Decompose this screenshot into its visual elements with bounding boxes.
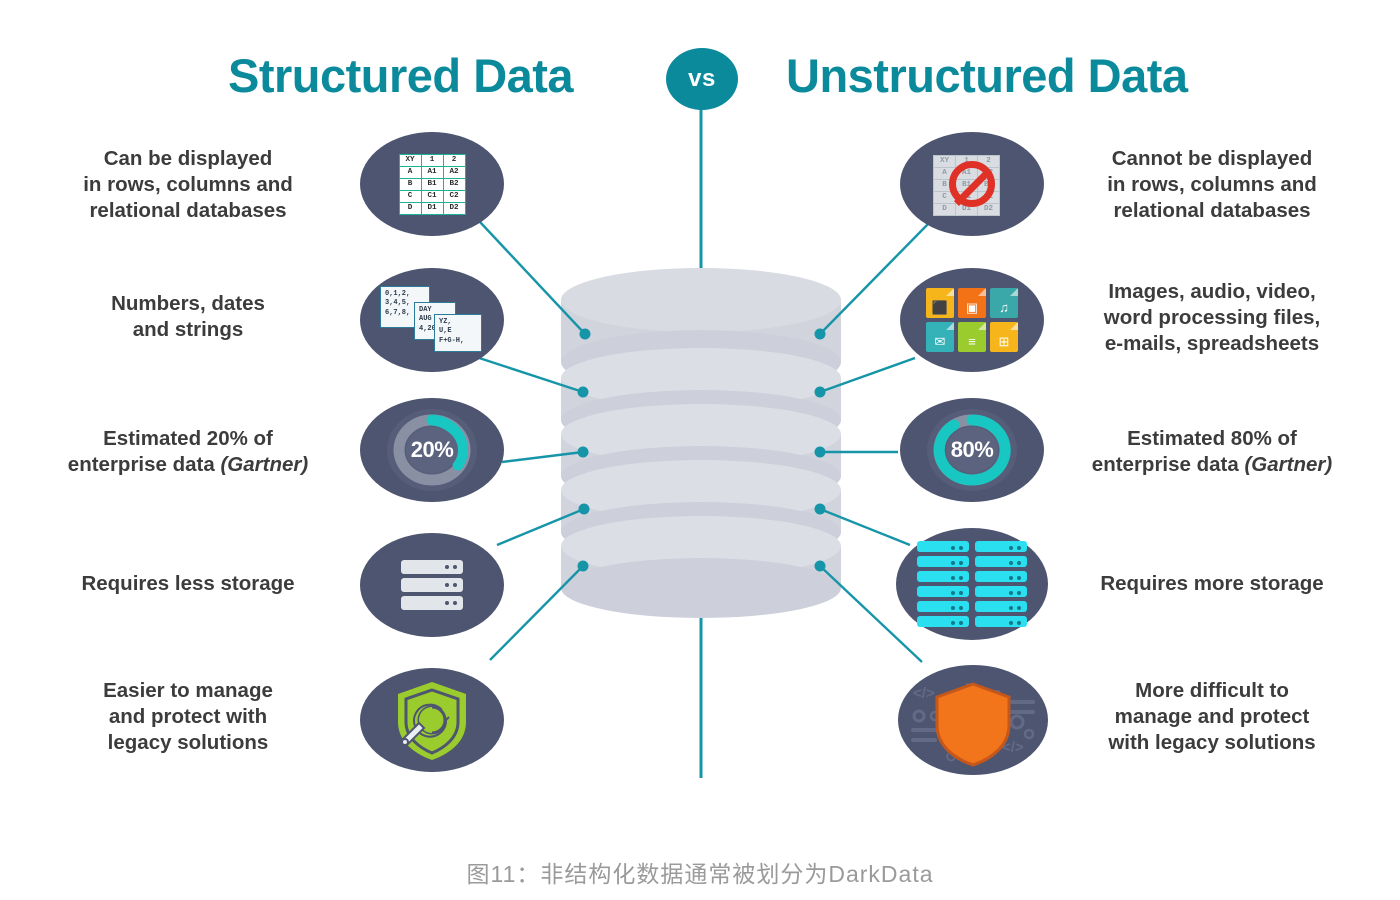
- rack-unit: [401, 560, 463, 574]
- server-rack-large-icon: [896, 528, 1048, 640]
- code-glyph: </>: [913, 685, 935, 702]
- file-glyph: ⊞: [999, 335, 1010, 348]
- database-cylinder-stack: [561, 268, 841, 618]
- label-right-row-4: Requires more storage: [1052, 571, 1372, 597]
- table-cell: A2: [443, 166, 465, 178]
- vs-badge: vs: [666, 48, 738, 110]
- table-cell: D2: [978, 204, 1000, 216]
- file-glyph: ▣: [966, 301, 978, 314]
- rack-unit: [917, 571, 969, 582]
- file-glyph: ✉: [935, 335, 946, 348]
- video-file-icon: ▣: [958, 288, 986, 318]
- table-cell: 1: [421, 154, 443, 166]
- rack-unit: [975, 541, 1027, 552]
- label-left-row-4: Requires less storage: [28, 571, 348, 597]
- donut-chart-80-icon: 80%: [900, 398, 1044, 502]
- label-right-row-1: Cannot be displayed in rows, columns and…: [1052, 146, 1372, 225]
- rack-unit: [917, 601, 969, 612]
- strings-card: YZ, U,E F+G-H,: [434, 314, 482, 352]
- file-glyph: ⬛: [932, 301, 948, 314]
- label-left-row-5: Easier to manage and protect with legacy…: [28, 678, 348, 757]
- table-cell: C: [399, 190, 421, 202]
- table-cell: XY: [934, 156, 956, 168]
- table-cell: D2: [443, 202, 465, 214]
- table-cell: A: [399, 166, 421, 178]
- image-file-icon: ⬛: [926, 288, 954, 318]
- label-right-row-2: Images, audio, video, word processing fi…: [1052, 279, 1372, 358]
- shield-code-icon: </> </> ↻ ↺ C: [898, 665, 1048, 775]
- label-right-row-5: More difficult to manage and protect wit…: [1052, 678, 1372, 757]
- rack-unit: [401, 578, 463, 592]
- data-cards-icon: 0,1,2, 3,4,5, 6,7,8, DAY AUG 4,2025 YZ, …: [360, 268, 504, 372]
- file-types-icon: ⬛ ▣ ♫ ✉ ≡ ⊞: [900, 268, 1044, 372]
- label-right-row-3: Estimated 80% of enterprise data (Gartne…: [1052, 426, 1372, 478]
- table-cell: D: [934, 204, 956, 216]
- document-file-icon: ≡: [958, 322, 986, 352]
- shield-wrench-icon: [360, 668, 504, 772]
- rack-large: [917, 541, 1027, 627]
- table-cell: C2: [443, 190, 465, 202]
- rack-small: [401, 560, 463, 610]
- donut-80-value: 80%: [900, 398, 1044, 502]
- figure-caption: 图11：非结构化数据通常被划分为DarkData: [0, 855, 1400, 889]
- cards-group: 0,1,2, 3,4,5, 6,7,8, DAY AUG 4,2025 YZ, …: [380, 284, 484, 356]
- blocked-data-table-icon: XY 1 2 A A1 A2 B B1 B2 C C1 C2: [900, 132, 1044, 236]
- no-entry-icon: [949, 161, 995, 207]
- rack-column: [917, 541, 969, 627]
- file-glyph: ≡: [968, 335, 976, 348]
- rack-unit: [917, 556, 969, 567]
- rack-unit: [975, 616, 1027, 627]
- donut-chart-20-icon: 20%: [360, 398, 504, 502]
- table-cell: 2: [443, 154, 465, 166]
- email-file-icon: ✉: [926, 322, 954, 352]
- table-cell: D: [399, 202, 421, 214]
- server-rack-small-icon: [360, 533, 504, 637]
- spreadsheet-file-icon: ⊞: [990, 322, 1018, 352]
- rack-unit: [975, 556, 1027, 567]
- file-glyph: ♫: [999, 301, 1009, 314]
- label-left-row-3: Estimated 20% of enterprise data (Gartne…: [28, 426, 348, 478]
- rack-column: [975, 541, 1027, 627]
- shield-wrench-svg: [386, 676, 478, 764]
- rack-unit: [917, 586, 969, 597]
- rack-unit: [917, 541, 969, 552]
- label-left-row-2: Numbers, dates and strings: [28, 291, 348, 343]
- blocked-table-wrap: XY 1 2 A A1 A2 B B1 B2 C C1 C2: [933, 155, 1011, 213]
- table-cell: C1: [421, 190, 443, 202]
- table-cell: B2: [443, 178, 465, 190]
- rack-unit: [975, 571, 1027, 582]
- label-left-row-1: Can be displayed in rows, columns and re…: [28, 146, 348, 225]
- data-table-icon: XY 1 2 A A1 A2 B B1 B2 C C1 C2 D D1: [360, 132, 504, 236]
- table-cell: B: [399, 178, 421, 190]
- shield-code-svg: </> </> ↻ ↺ C: [905, 670, 1041, 770]
- cylinder-disc-5: [561, 516, 841, 618]
- page-title-left: Structured Data: [228, 52, 573, 99]
- rack-unit: [975, 601, 1027, 612]
- donut-20-value: 20%: [360, 398, 504, 502]
- table-cell: XY: [399, 154, 421, 166]
- mini-table: XY 1 2 A A1 A2 B B1 B2 C C1 C2 D D1: [399, 154, 466, 215]
- rack-unit: [917, 616, 969, 627]
- rack-unit: [975, 586, 1027, 597]
- table-cell: A1: [421, 166, 443, 178]
- page-title-right: Unstructured Data: [786, 52, 1188, 99]
- infographic-root: Structured Data vs Unstructured Data Can…: [0, 0, 1400, 900]
- table-cell: B1: [421, 178, 443, 190]
- table-cell: D1: [421, 202, 443, 214]
- audio-file-icon: ♫: [990, 288, 1018, 318]
- rack-unit: [401, 596, 463, 610]
- file-type-grid: ⬛ ▣ ♫ ✉ ≡ ⊞: [926, 288, 1018, 352]
